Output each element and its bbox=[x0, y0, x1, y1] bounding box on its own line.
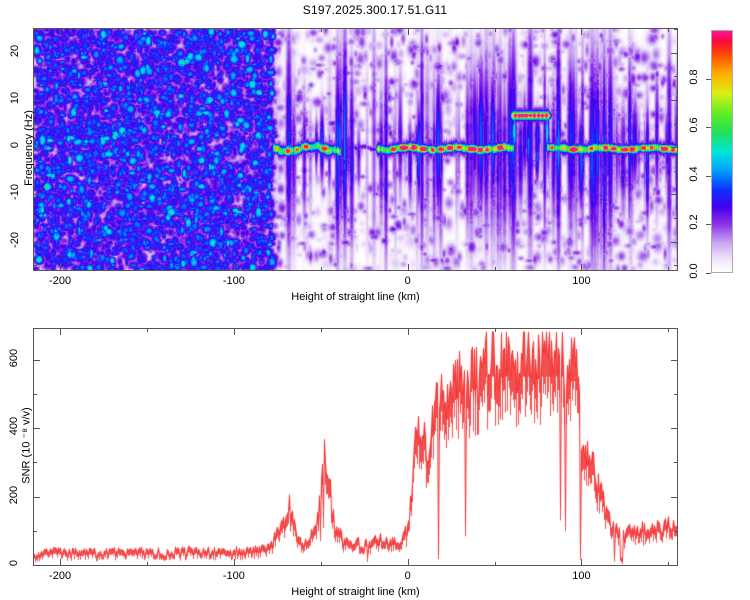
tick-mark bbox=[33, 265, 37, 266]
tick-mark bbox=[674, 76, 678, 77]
tick-mark bbox=[60, 559, 61, 566]
y-axis-tick-label: 0 bbox=[9, 131, 21, 159]
tick-mark bbox=[147, 267, 148, 271]
tick-mark bbox=[147, 328, 148, 332]
tick-mark bbox=[671, 147, 678, 148]
y-axis-tick-label: 20 bbox=[9, 37, 21, 65]
tick-mark bbox=[581, 328, 582, 335]
tick-mark bbox=[706, 224, 711, 225]
tick-mark bbox=[674, 462, 678, 463]
spectrogram-y-axis-label: Frequency (Hz) bbox=[23, 88, 35, 208]
tick-mark bbox=[33, 76, 37, 77]
tick-mark bbox=[668, 267, 669, 271]
tick-mark bbox=[671, 242, 678, 243]
tick-mark bbox=[408, 559, 409, 566]
x-axis-tick-label: 100 bbox=[553, 570, 609, 582]
tick-mark bbox=[671, 360, 678, 361]
tick-mark bbox=[581, 559, 582, 566]
tick-mark bbox=[321, 328, 322, 332]
tick-mark bbox=[321, 562, 322, 566]
y-axis-tick-label: -10 bbox=[9, 178, 21, 206]
y-axis-tick-label: 10 bbox=[9, 84, 21, 112]
tick-mark bbox=[671, 53, 678, 54]
tick-mark bbox=[668, 328, 669, 332]
tick-mark bbox=[671, 428, 678, 429]
tick-mark bbox=[234, 328, 235, 335]
tick-mark bbox=[33, 218, 37, 219]
tick-mark bbox=[674, 394, 678, 395]
tick-mark bbox=[234, 28, 235, 35]
snr-line-trace bbox=[34, 329, 677, 565]
tick-mark bbox=[60, 328, 61, 335]
tick-mark bbox=[147, 28, 148, 32]
tick-mark bbox=[706, 79, 711, 80]
tick-mark bbox=[668, 562, 669, 566]
tick-mark bbox=[671, 565, 678, 566]
tick-mark bbox=[33, 360, 40, 361]
tick-mark bbox=[33, 29, 37, 30]
tick-mark bbox=[495, 562, 496, 566]
colorbar-tick-label: 0.2 bbox=[688, 209, 700, 235]
tick-mark bbox=[408, 28, 409, 35]
tick-mark bbox=[33, 497, 40, 498]
tick-mark bbox=[495, 328, 496, 332]
tick-mark bbox=[495, 267, 496, 271]
tick-mark bbox=[706, 176, 711, 177]
tick-mark bbox=[33, 531, 37, 532]
colorbar-gradient bbox=[711, 30, 733, 273]
x-axis-tick-label: 0 bbox=[380, 570, 436, 582]
tick-mark bbox=[33, 428, 40, 429]
snr-x-axis-label: Height of straight line (km) bbox=[236, 586, 476, 598]
tick-mark bbox=[408, 264, 409, 271]
tick-mark bbox=[671, 100, 678, 101]
x-axis-tick-label: 0 bbox=[380, 275, 436, 287]
tick-mark bbox=[234, 264, 235, 271]
y-axis-tick-label: -20 bbox=[9, 226, 21, 254]
tick-mark bbox=[60, 264, 61, 271]
tick-mark bbox=[408, 328, 409, 335]
tick-mark bbox=[234, 559, 235, 566]
x-axis-tick-label: 100 bbox=[553, 275, 609, 287]
x-axis-tick-label: -100 bbox=[206, 275, 262, 287]
tick-mark bbox=[33, 565, 40, 566]
tick-mark bbox=[33, 242, 40, 243]
tick-mark bbox=[33, 462, 37, 463]
x-axis-tick-label: -200 bbox=[32, 275, 88, 287]
y-axis-tick-label: 400 bbox=[8, 411, 20, 441]
tick-mark bbox=[671, 194, 678, 195]
tick-mark bbox=[147, 562, 148, 566]
tick-mark bbox=[321, 28, 322, 32]
figure-root: S197.2025.300.17.51.G11 -200-1000100-20-… bbox=[0, 0, 750, 600]
colorbar-tick-label: 0.6 bbox=[688, 112, 700, 138]
tick-mark bbox=[495, 28, 496, 32]
snr-panel bbox=[33, 328, 678, 566]
tick-mark bbox=[706, 127, 711, 128]
tick-mark bbox=[33, 53, 40, 54]
y-axis-tick-label: 0 bbox=[8, 548, 20, 578]
snr-y-axis-label: SNR (10 ⁻⁸ v/v) bbox=[20, 381, 33, 511]
colorbar-wrap bbox=[711, 30, 733, 273]
tick-mark bbox=[581, 264, 582, 271]
tick-mark bbox=[581, 28, 582, 35]
tick-mark bbox=[321, 267, 322, 271]
spectrogram-x-axis-label: Height of straight line (km) bbox=[236, 291, 476, 303]
tick-mark bbox=[60, 28, 61, 35]
tick-mark bbox=[674, 531, 678, 532]
tick-mark bbox=[668, 28, 669, 32]
tick-mark bbox=[674, 218, 678, 219]
spectrogram-image bbox=[34, 29, 677, 270]
colorbar-tick-label: 0.0 bbox=[688, 258, 700, 284]
tick-mark bbox=[674, 171, 678, 172]
tick-mark bbox=[671, 497, 678, 498]
tick-mark bbox=[674, 29, 678, 30]
colorbar-tick-label: 0.4 bbox=[688, 161, 700, 187]
tick-mark bbox=[674, 265, 678, 266]
tick-mark bbox=[33, 394, 37, 395]
tick-mark bbox=[706, 273, 711, 274]
x-axis-tick-label: -200 bbox=[32, 570, 88, 582]
y-axis-tick-label: 600 bbox=[8, 343, 20, 373]
spectrogram-panel bbox=[33, 28, 678, 271]
tick-mark bbox=[674, 124, 678, 125]
y-axis-tick-label: 200 bbox=[8, 480, 20, 510]
colorbar-tick-label: 0.8 bbox=[688, 64, 700, 90]
figure-title: S197.2025.300.17.51.G11 bbox=[0, 3, 750, 17]
x-axis-tick-label: -100 bbox=[206, 570, 262, 582]
